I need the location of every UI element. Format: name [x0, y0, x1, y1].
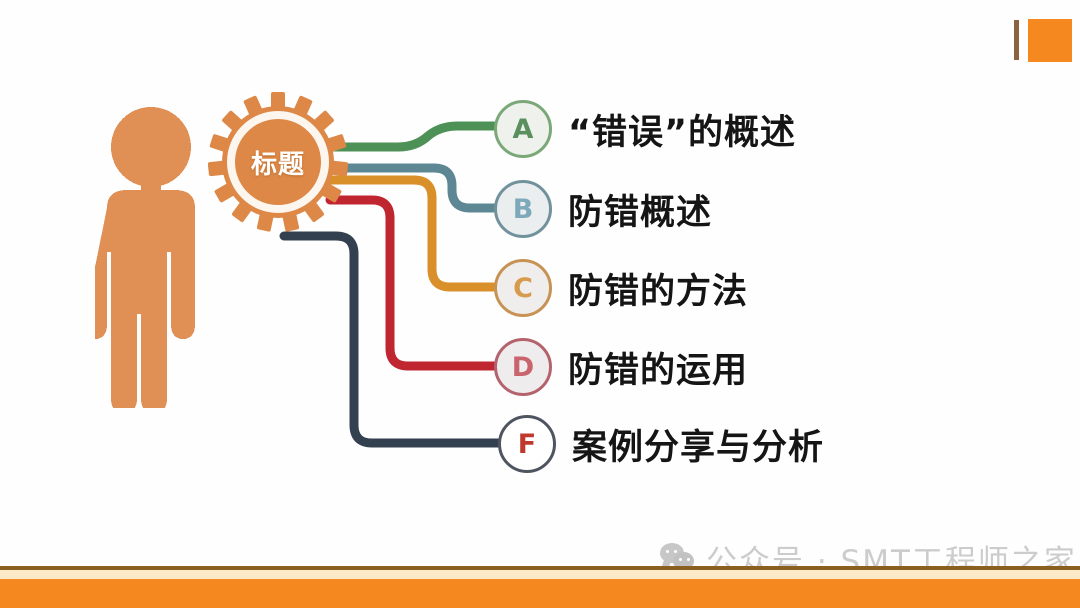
- badge-a[interactable]: A: [494, 100, 552, 158]
- badge-b[interactable]: B: [494, 180, 552, 238]
- list-item-c-label: 防错的方法: [568, 263, 748, 314]
- footer-orange-bar: [0, 579, 1080, 608]
- slide-canvas: 标题 A “错误”的概述 B 防错概述 C 防错的方法 D 防错的运用 F 案例…: [0, 0, 1080, 608]
- badge-b-letter: B: [513, 194, 534, 225]
- badge-c-letter: C: [513, 273, 533, 304]
- badge-a-letter: A: [513, 114, 534, 145]
- center-gear-label: 标题: [208, 92, 348, 232]
- list-item-a-label: “错误”的概述: [568, 104, 796, 155]
- badge-c[interactable]: C: [494, 259, 552, 317]
- badge-d-letter: D: [512, 352, 534, 383]
- list-item-b-label: 防错概述: [568, 184, 712, 235]
- list-item-d[interactable]: D 防错的运用: [494, 338, 748, 396]
- list-item-c[interactable]: C 防错的方法: [494, 259, 748, 317]
- badge-f-letter: F: [518, 429, 536, 460]
- center-gear-node[interactable]: 标题: [208, 92, 348, 232]
- footer-light-line: [0, 570, 1080, 579]
- list-item-d-label: 防错的运用: [568, 342, 748, 393]
- list-item-f-label: 案例分享与分析: [572, 419, 824, 470]
- list-item-a[interactable]: A “错误”的概述: [494, 100, 796, 158]
- badge-f[interactable]: F: [498, 415, 556, 473]
- list-item-b[interactable]: B 防错概述: [494, 180, 712, 238]
- badge-d[interactable]: D: [494, 338, 552, 396]
- list-item-f[interactable]: F 案例分享与分析: [498, 415, 824, 473]
